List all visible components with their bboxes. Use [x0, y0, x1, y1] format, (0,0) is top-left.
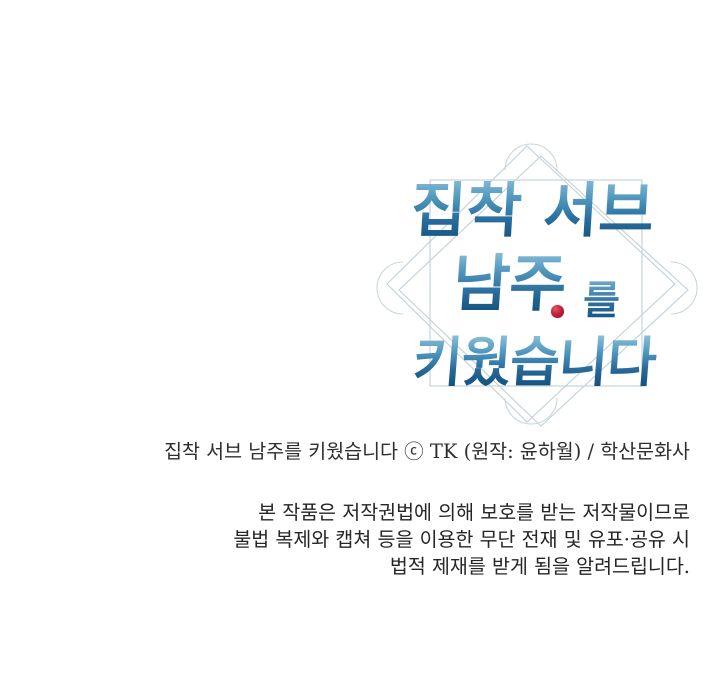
page-canvas: 집착 서브 남주 를 키웠습니다 집착 서브 남주를 키웠습니다 ⓒ TK (원… [0, 0, 720, 686]
decorative-diamond-frame [375, 138, 700, 430]
copyright-disclaimer: 본 작품은 저작권법에 의해 보호를 받는 저작물이므로 불법 복제와 캡쳐 등… [0, 499, 690, 580]
disclaimer-line-1: 본 작품은 저작권법에 의해 보호를 받는 저작물이므로 [0, 499, 690, 526]
webtoon-title-logo: 집착 서브 남주 를 키웠습니다 [375, 138, 700, 430]
disclaimer-line-2: 불법 복제와 캡쳐 등을 이용한 무단 전재 및 유포·공유 시 [0, 526, 690, 553]
disclaimer-line-3: 법적 제재를 받게 됨을 알려드립니다. [0, 553, 690, 580]
copyright-line: 집착 서브 남주를 키웠습니다 ⓒ TK (원작: 윤하월) / 학산문화사 [0, 437, 690, 467]
